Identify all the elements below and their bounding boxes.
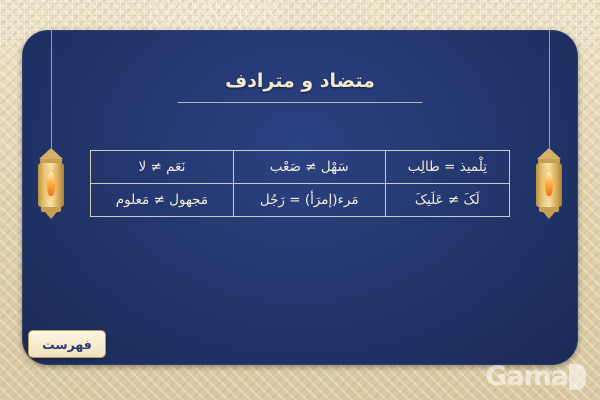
table-cell: سَهْل ≠ صَعْب (233, 151, 385, 184)
lantern-cord (51, 30, 52, 148)
lantern-icon-right (526, 30, 572, 222)
lantern-body (36, 148, 66, 222)
watermark: Gama (485, 361, 586, 392)
lantern-icon-left (28, 30, 74, 222)
content-panel: متضاد و مترادف تِلْمیذ = طالِب سَهْل ≠ ص… (22, 30, 578, 365)
lantern-body (534, 148, 564, 222)
page-title: متضاد و مترادف (22, 70, 578, 92)
lantern-cord (549, 30, 550, 148)
slide-canvas: متضاد و مترادف تِلْمیذ = طالِب سَهْل ≠ ص… (0, 0, 600, 400)
word-pairs-table: تِلْمیذ = طالِب سَهْل ≠ صَعْب نَعَم ≠ لا… (90, 150, 510, 217)
table-row: تِلْمیذ = طالِب سَهْل ≠ صَعْب نَعَم ≠ لا (91, 151, 510, 184)
lantern-roof (39, 148, 63, 159)
flame-icon (545, 172, 553, 196)
lantern-knob (45, 212, 57, 219)
table-cell: لَکَ ≠ عَلَیکَ (385, 184, 509, 217)
watermark-mark-icon (569, 364, 586, 390)
lantern-knob (543, 212, 555, 219)
watermark-text: Gama (485, 361, 568, 392)
table-cell: مَجهول ≠ مَعلوم (91, 184, 234, 217)
lantern-glass (536, 163, 562, 207)
lantern-roof (537, 148, 561, 159)
flame-icon (47, 172, 55, 196)
title-underline (178, 102, 423, 103)
table-cell: نَعَم ≠ لا (91, 151, 234, 184)
lantern-glass (38, 163, 64, 207)
table-cell: مَرء(إمرَأ) = رَجُل (233, 184, 385, 217)
table-cell: تِلْمیذ = طالِب (385, 151, 509, 184)
table-row: لَکَ ≠ عَلَیکَ مَرء(إمرَأ) = رَجُل مَجهو… (91, 184, 510, 217)
index-button[interactable]: فهرست (28, 330, 106, 358)
